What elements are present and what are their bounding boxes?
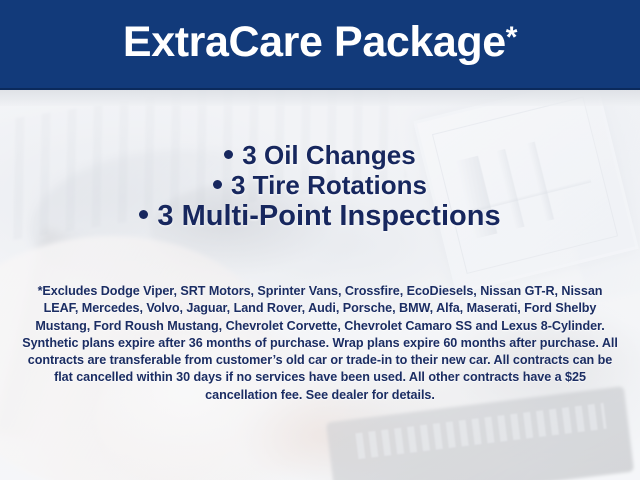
benefit-item-multi-point-inspections: 3 Multi-Point Inspections (0, 200, 640, 234)
page-title-asterisk: * (506, 21, 517, 54)
disclaimer-block: *Excludes Dodge Viper, SRT Motors, Sprin… (22, 283, 618, 404)
bullet-dot-icon (213, 180, 222, 189)
card-body: 3 Oil Changes 3 Tire Rotations 3 Multi-P… (0, 88, 640, 480)
header-band: ExtraCare Package* (0, 0, 640, 90)
benefit-label: 3 Oil Changes (242, 140, 415, 170)
benefit-label: 3 Tire Rotations (231, 170, 427, 200)
disclaimer-text: *Excludes Dodge Viper, SRT Motors, Sprin… (22, 283, 618, 404)
benefit-label: 3 Multi-Point Inspections (157, 200, 500, 232)
page-title-text: ExtraCare Package (123, 18, 506, 66)
bullet-dot-icon (224, 150, 233, 159)
page-title: ExtraCare Package* (123, 21, 517, 67)
benefit-item-tire-rotations: 3 Tire Rotations (0, 170, 640, 200)
benefit-item-oil-changes: 3 Oil Changes (0, 140, 640, 170)
benefits-list: 3 Oil Changes 3 Tire Rotations 3 Multi-P… (0, 140, 640, 234)
extracare-package-promo-card: ExtraCare Package* 3 Oil Changes 3 Tire … (0, 0, 640, 480)
bullet-dot-icon (139, 210, 148, 219)
